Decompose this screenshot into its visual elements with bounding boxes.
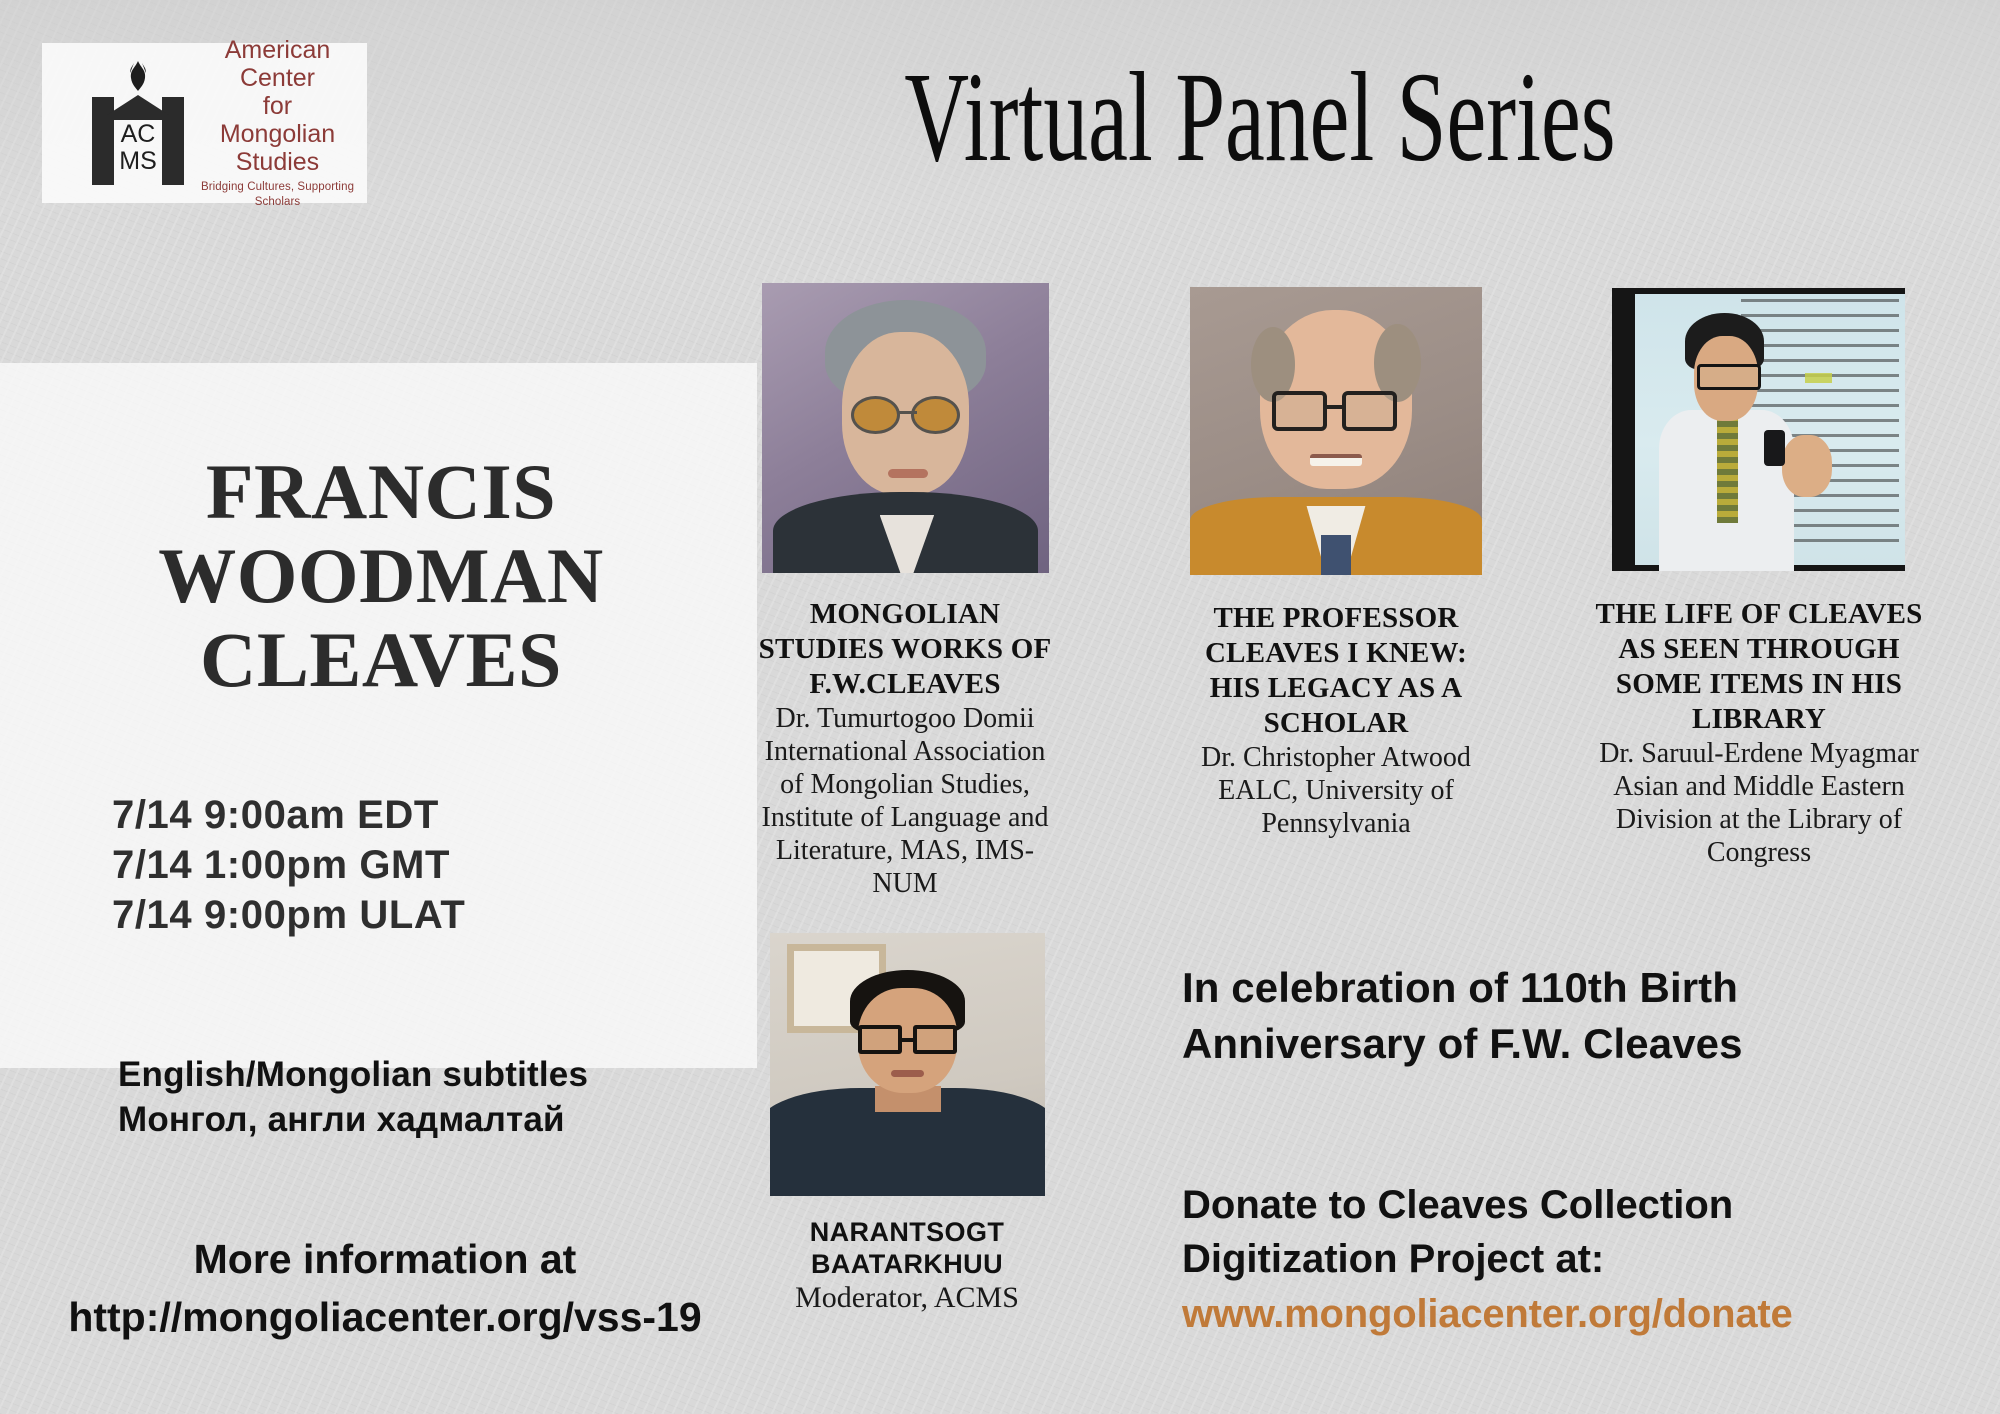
portrait-glasses-bridge	[897, 411, 917, 414]
speaker-3-name: Dr. Saruul-Erdene Myagmar	[1584, 737, 1934, 770]
honoree-name-line-1: FRANCIS	[66, 450, 696, 534]
portrait-glasses-right-lens	[913, 1025, 957, 1054]
flame-icon	[125, 61, 151, 91]
acms-name-line-2: for	[198, 92, 357, 120]
acms-logo-text: American Center for Mongolian Studies Br…	[198, 36, 357, 210]
acms-logo-mark-icon: ACMS	[86, 61, 190, 185]
donate-url[interactable]: www.mongoliacenter.org/donate	[1182, 1286, 1922, 1342]
portrait-glasses-right-lens	[1342, 391, 1397, 431]
speaker-1-photo-frame	[762, 283, 1049, 573]
presentation-clicker	[1764, 430, 1785, 467]
portrait-mouth	[888, 469, 928, 478]
speaker-2-photo-frame	[1190, 287, 1482, 575]
moderator-portrait	[770, 933, 1045, 1196]
celebration-note: In celebration of 110th Birth Anniversar…	[1182, 960, 1922, 1072]
logo-roof-icon	[107, 95, 169, 115]
speaker-2-name: Dr. Christopher Atwood	[1186, 741, 1486, 774]
portrait-glasses-bridge	[899, 1038, 916, 1042]
event-time-ulat: 7/14 9:00pm ULAT	[112, 890, 465, 940]
speaker-1-caption: MONGOLIAN STUDIES WORKS OF F.W.CLEAVES D…	[750, 597, 1060, 900]
portrait-tie	[1717, 415, 1738, 523]
speaker-1-portrait	[762, 283, 1049, 573]
event-time-gmt: 7/14 1:00pm GMT	[112, 840, 465, 890]
portrait-glasses	[1697, 364, 1761, 389]
subtitles-note-mongolian: Монгол, англи хадмалтай	[118, 1097, 588, 1142]
speaker-3-affiliation: Asian and Middle Eastern Division at the…	[1584, 770, 1934, 869]
portrait-hand	[1782, 435, 1832, 497]
logo-acronym: ACMS	[119, 121, 157, 175]
speaker-3-portrait	[1612, 288, 1905, 571]
acms-tagline: Bridging Cultures, Supporting Scholars	[198, 180, 357, 210]
honoree-name: FRANCIS WOODMAN CLEAVES	[66, 450, 696, 702]
moderator-photo-frame	[770, 933, 1045, 1196]
speaker-2-caption: THE PROFESSOR CLEAVES I KNEW: HIS LEGACY…	[1186, 601, 1486, 840]
donate-block: Donate to Cleaves Collection Digitizatio…	[1182, 1178, 1922, 1342]
portrait-glasses-left-lens	[858, 1025, 902, 1054]
event-time-edt: 7/14 9:00am EDT	[112, 790, 465, 840]
more-information-label: More information at	[20, 1230, 750, 1288]
portrait-tie	[1321, 535, 1350, 575]
more-information: More information at http://mongoliacente…	[20, 1230, 750, 1346]
moderator-card: NARANTSOGT BAATARKHUU Moderator, ACMS	[770, 933, 1045, 1316]
speaker-3-talk-title: THE LIFE OF CLEAVES AS SEEN THROUGH SOME…	[1584, 597, 1934, 737]
portrait-glasses-left-lens	[851, 396, 900, 434]
speaker-3-caption: THE LIFE OF CLEAVES AS SEEN THROUGH SOME…	[1584, 597, 1934, 869]
acms-name-line-3: Mongolian Studies	[198, 120, 357, 176]
more-information-url[interactable]: http://mongoliacenter.org/vss-19	[20, 1288, 750, 1346]
acms-logo: ACMS American Center for Mongolian Studi…	[42, 43, 367, 203]
moderator-caption: NARANTSOGT BAATARKHUU Moderator, ACMS	[757, 1216, 1057, 1316]
honoree-name-line-3: CLEAVES	[66, 618, 696, 702]
acms-name-line-1: American Center	[198, 36, 357, 92]
poster-canvas: ACMS American Center for Mongolian Studi…	[0, 0, 2000, 1414]
portrait-glasses-right-lens	[911, 396, 960, 434]
subtitles-note: English/Mongolian subtitles Монгол, англ…	[118, 1052, 588, 1142]
subtitles-note-english: English/Mongolian subtitles	[118, 1052, 588, 1097]
speaker-2-talk-title: THE PROFESSOR CLEAVES I KNEW: HIS LEGACY…	[1186, 601, 1486, 741]
speaker-card-2: THE PROFESSOR CLEAVES I KNEW: HIS LEGACY…	[1190, 287, 1482, 840]
speaker-1-name: Dr. Tumurtogoo Domii	[750, 702, 1060, 735]
event-times: 7/14 9:00am EDT 7/14 1:00pm GMT 7/14 9:0…	[112, 790, 465, 940]
slide-highlight-1	[1805, 373, 1831, 383]
portrait-glasses-left-lens	[1272, 391, 1327, 431]
page-title: Virtual Panel Series	[798, 52, 1722, 183]
speaker-3-photo-frame	[1612, 288, 1905, 571]
speaker-2-portrait	[1190, 287, 1482, 575]
moderator-role: Moderator, ACMS	[757, 1280, 1057, 1316]
portrait-glasses-bridge	[1324, 405, 1344, 409]
honoree-name-line-2: WOODMAN	[66, 534, 696, 618]
moderator-name: NARANTSOGT BAATARKHUU	[757, 1216, 1057, 1280]
portrait-mouth	[891, 1070, 924, 1077]
speaker-card-1: MONGOLIAN STUDIES WORKS OF F.W.CLEAVES D…	[762, 283, 1049, 900]
speaker-1-talk-title: MONGOLIAN STUDIES WORKS OF F.W.CLEAVES	[750, 597, 1060, 702]
donate-label: Donate to Cleaves Collection Digitizatio…	[1182, 1178, 1922, 1286]
portrait-smile	[1310, 454, 1363, 466]
speaker-card-3: THE LIFE OF CLEAVES AS SEEN THROUGH SOME…	[1612, 288, 1905, 869]
speaker-1-affiliation: International Association of Mongolian S…	[750, 735, 1060, 900]
speaker-2-affiliation: EALC, University of Pennsylvania	[1186, 774, 1486, 840]
